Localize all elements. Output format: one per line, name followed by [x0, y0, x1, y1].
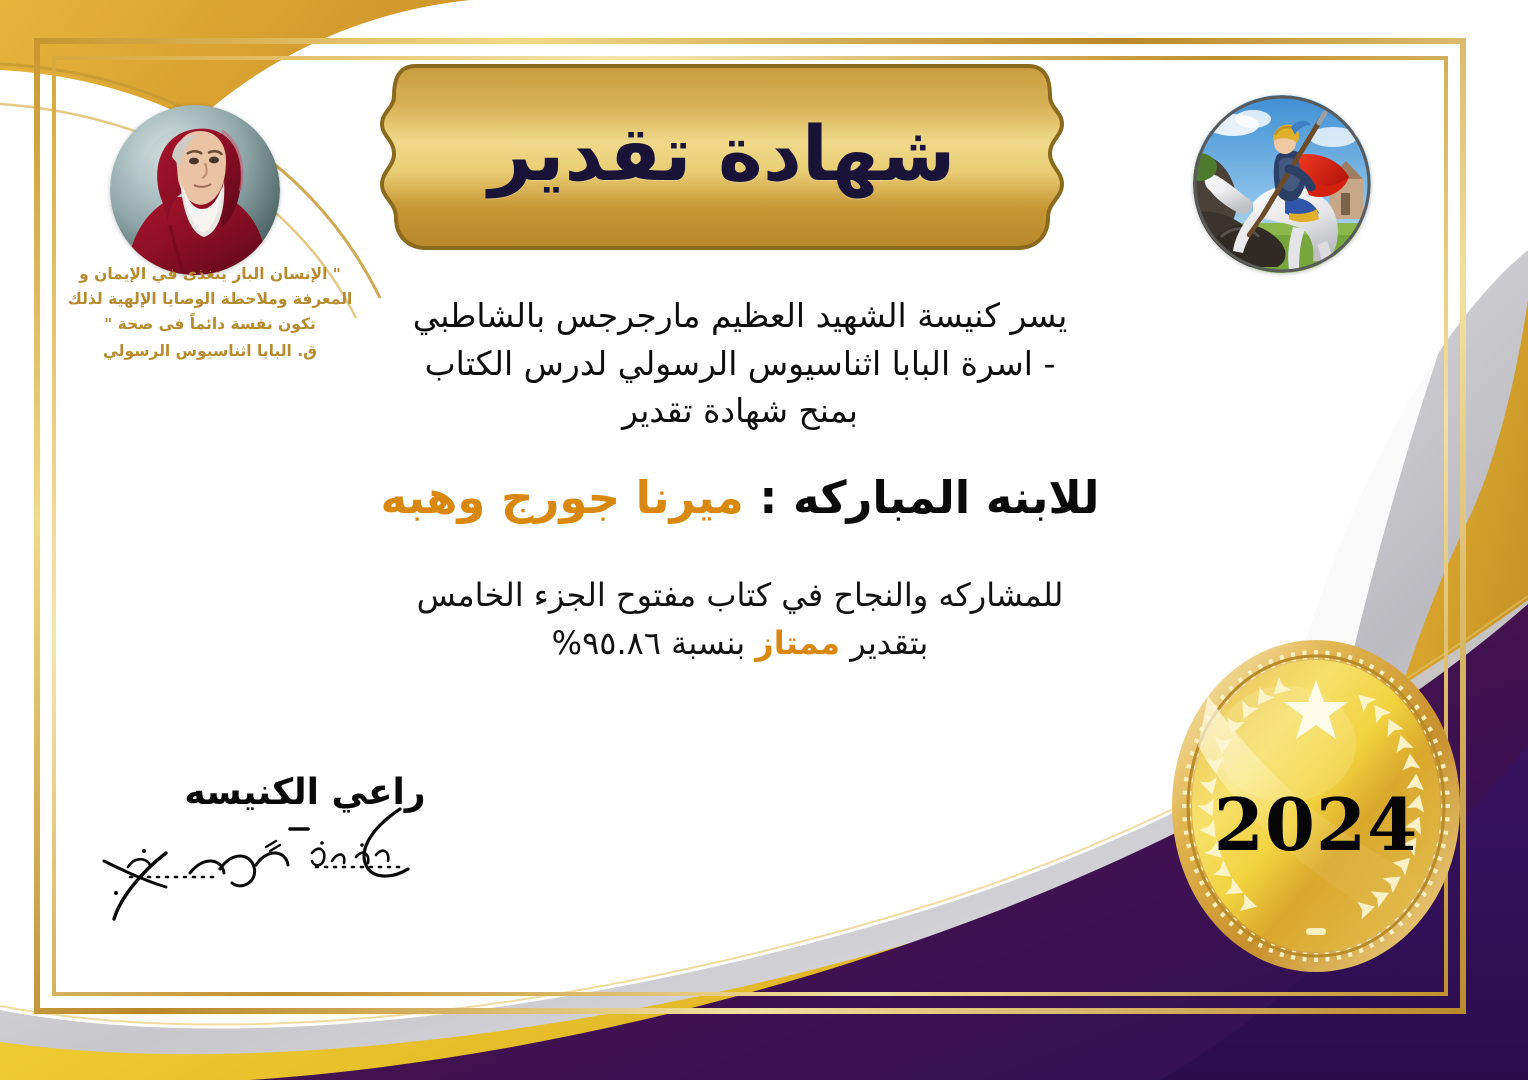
quote-attribution: ق. البابا اثناسيوس الرسولي [60, 339, 360, 364]
certificate-page: شهادة تقدير [0, 0, 1528, 1080]
body-line-2: - اسرة البابا اثناسيوس الرسولي لدرس الكت… [330, 340, 1150, 388]
grade-prefix: بتقدير [850, 624, 928, 662]
recipient-name: ميرنا جورج وهبه [381, 471, 744, 524]
pope-athanasius-portrait-icon [110, 105, 280, 275]
title-plaque: شهادة تقدير [372, 62, 1072, 252]
certificate-title: شهادة تقدير [372, 62, 1072, 252]
grade-suffix: بنسبة ٩٥.٨٦% [552, 624, 745, 662]
body-line-1: يسر كنيسة الشهيد العظيم مارجرجس بالشاطبي [330, 292, 1150, 340]
saint-george-dragon-icon [1193, 95, 1371, 273]
seal-year: 2024 [1168, 782, 1464, 867]
certificate-body: يسر كنيسة الشهيد العظيم مارجرجس بالشاطبي… [330, 292, 1150, 667]
achievement-grade-line: بتقدير ممتاز بنسبة ٩٥.٨٦% [330, 619, 1150, 667]
signature-block: راعي الكنيسه [70, 772, 540, 927]
achievement-line-1: للمشاركه والنجاح في كتاب مفتوح الجزء الخ… [330, 571, 1150, 619]
handwritten-signature-icon [70, 807, 540, 927]
grade-value: ممتاز [755, 624, 840, 662]
recipient-line: للابنه المباركه : ميرنا جورج وهبه [330, 469, 1150, 528]
body-line-3: بمنح شهادة تقدير [330, 387, 1150, 435]
recipient-label: للابنه المباركه : [759, 471, 1099, 524]
quote-text: " الإنسان البار يتغذى في الإيمان و المعر… [68, 265, 353, 333]
achievement-block: للمشاركه والنجاح في كتاب مفتوح الجزء الخ… [330, 571, 1150, 667]
gold-award-medal-icon: 2024 [1168, 636, 1464, 976]
quote-block: " الإنسان البار يتغذى في الإيمان و المعر… [60, 262, 360, 364]
